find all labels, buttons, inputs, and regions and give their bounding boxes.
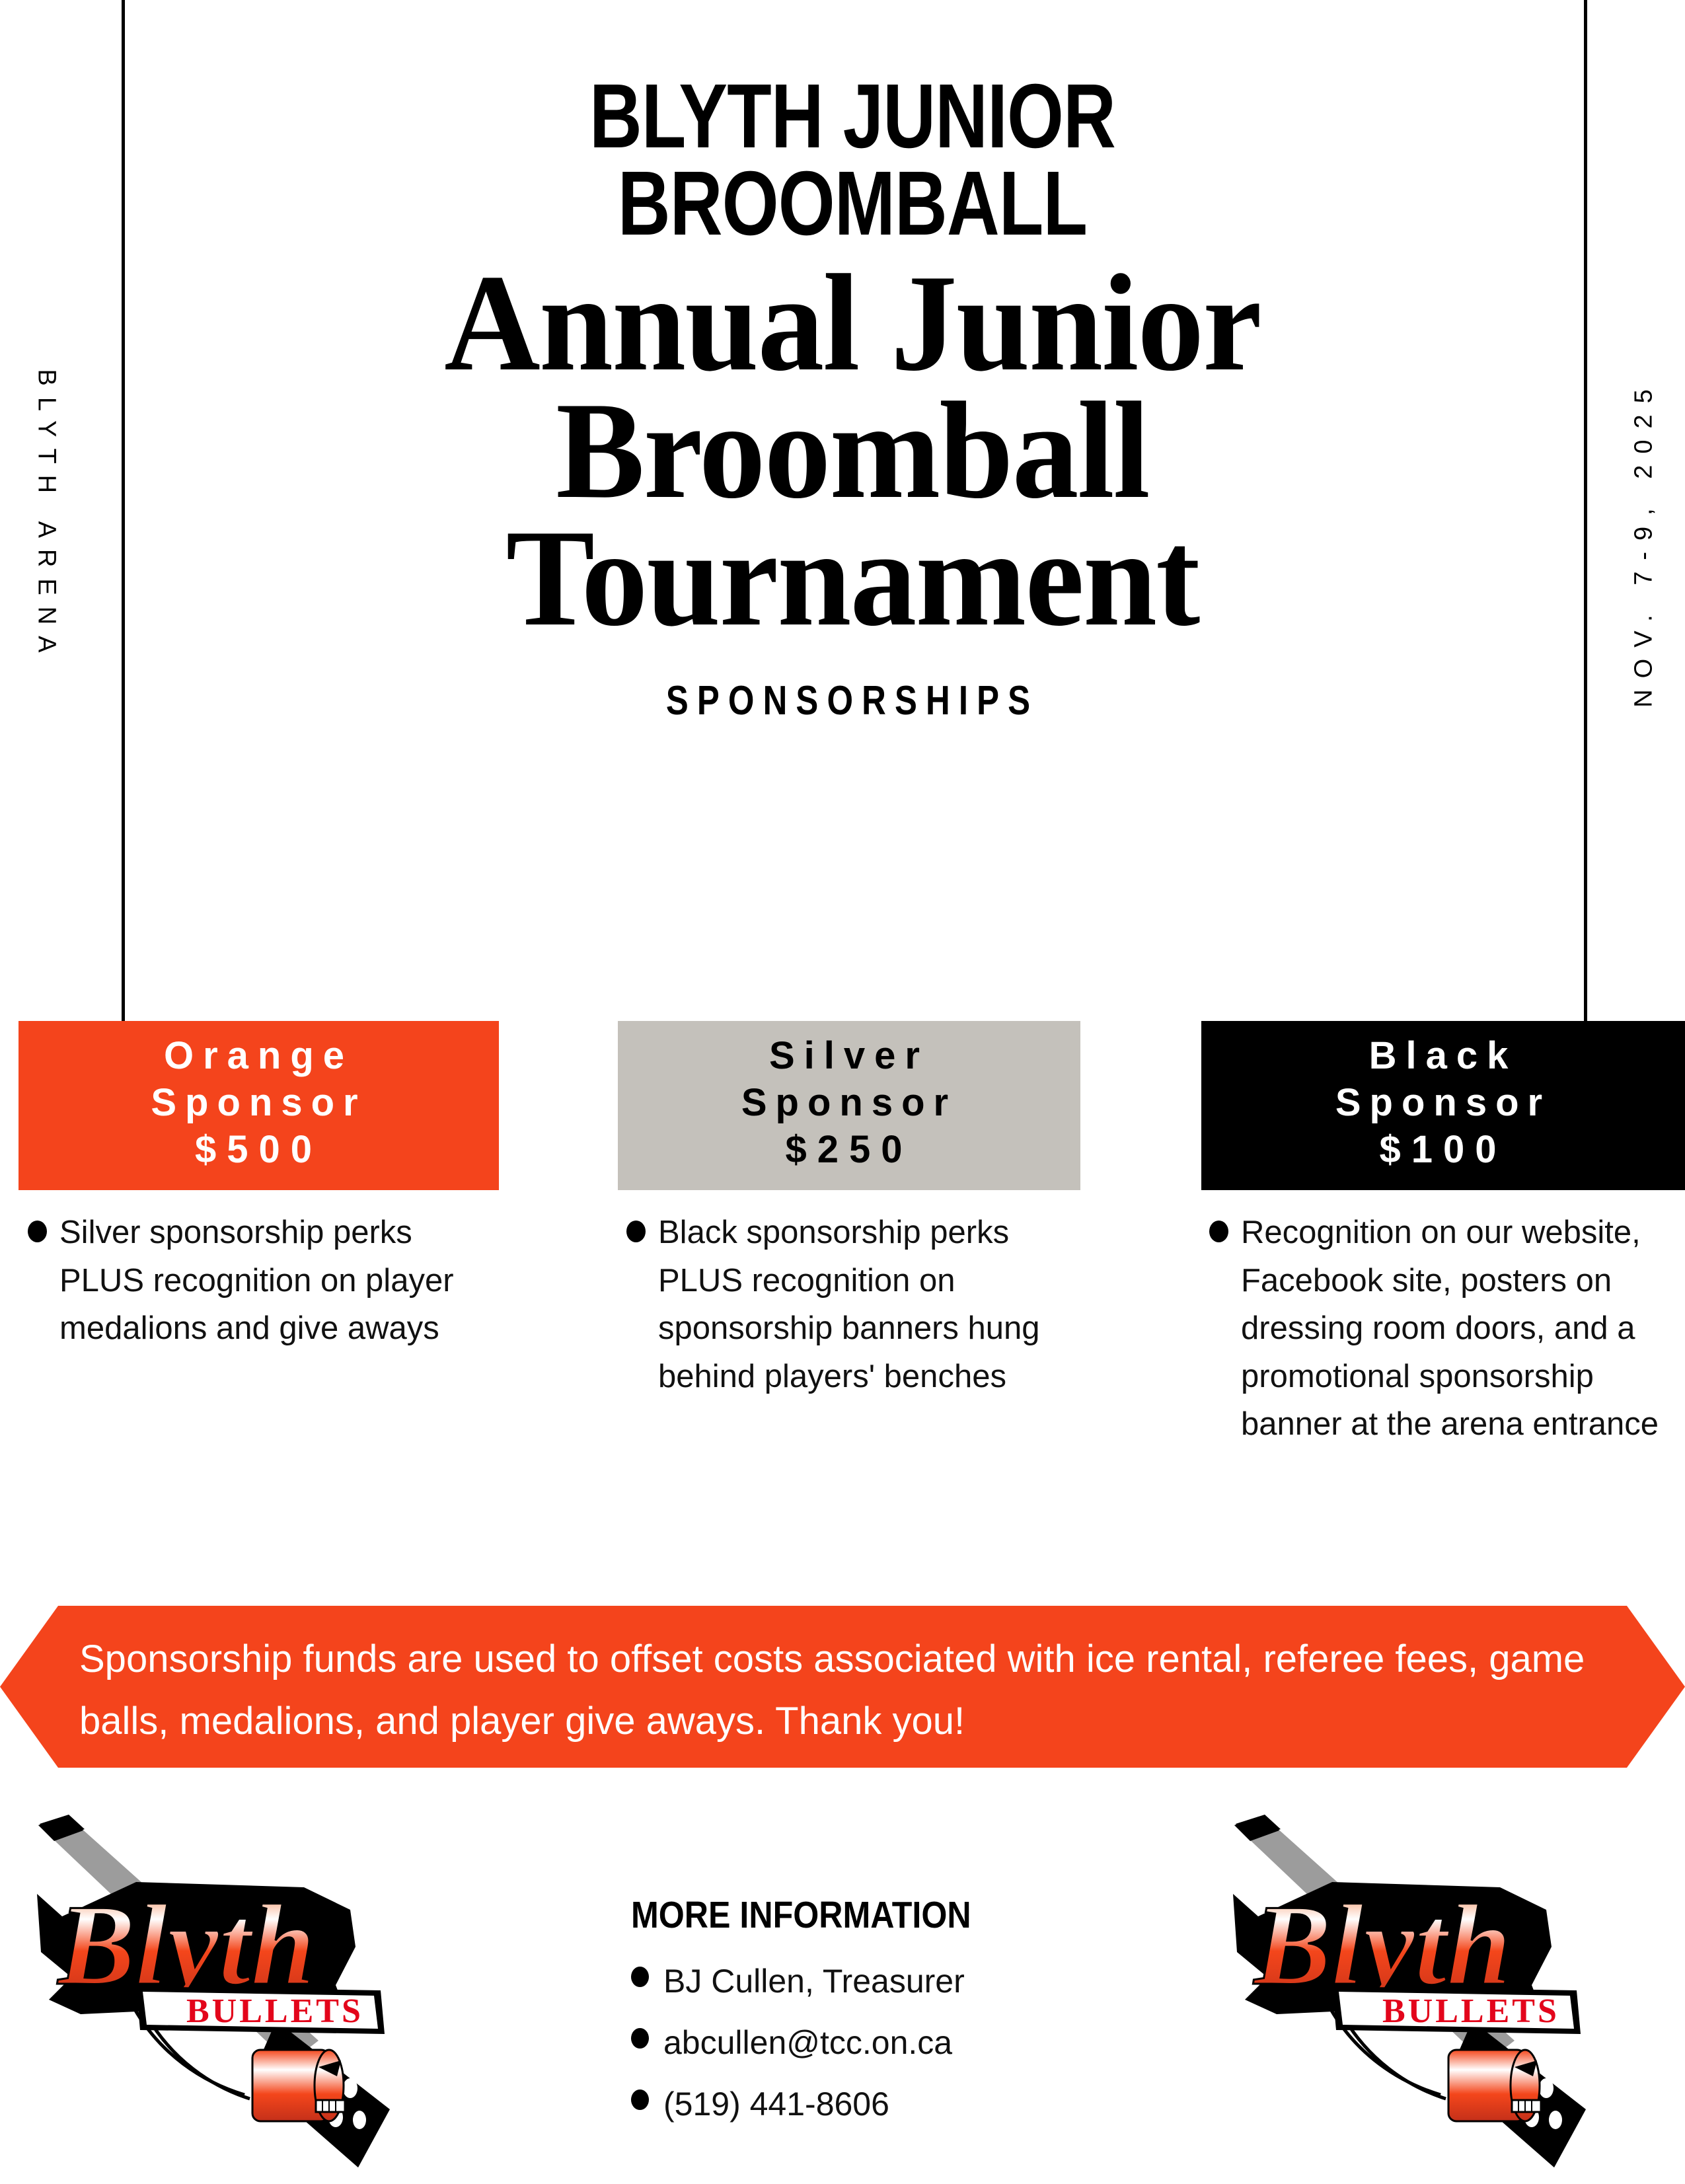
tier-chip-orange: Orange Sponsor $500 [19,1021,499,1190]
tier-card-black: Black Sponsor $100 Recognition on our we… [1123,1021,1685,1550]
kicker-line-2: BROOMBALL [271,160,1434,247]
blyth-bullets-logo-left: Blyth BULLETS [20,1811,430,2181]
tier-chip-black: Black Sponsor $100 [1201,1021,1685,1190]
section-subheading: SPONSORSHIPS [256,677,1448,724]
logo-bullets-word: BULLETS [1382,1992,1559,2030]
tier-amount: $500 [22,1127,495,1174]
tier-name-line-2: Sponsor [1205,1080,1681,1127]
tier-name-line-2: Sponsor [22,1080,495,1127]
more-information-heading: MORE INFORMATION [631,1893,1038,1937]
contact-phone[interactable]: (519) 441-8606 [663,2086,889,2123]
tier-card-silver: Silver Sponsor $250 Black sponsorship pe… [562,1021,1123,1550]
tier-amount: $100 [1205,1127,1681,1174]
tier-perk-row: Silver sponsorship perks PLUS recognitio… [28,1209,504,1353]
blyth-bullets-logo-right: Blyth BULLETS [1216,1811,1626,2181]
event-kicker: BLYTH JUNIOR BROOMBALL [271,73,1434,248]
headline-block: BLYTH JUNIOR BROOMBALL Annual Junior Bro… [126,73,1579,724]
funds-usage-banner: Sponsorship funds are used to offset cos… [0,1606,1685,1768]
tier-name-line-1: Black [1369,1034,1518,1077]
bullet-dot-icon [631,1967,649,1987]
left-vertical-rule [122,0,125,1023]
footer: Blyth BULLETS [0,1804,1685,2181]
bullet-dot-icon [28,1221,47,1242]
tier-amount: $250 [622,1127,1076,1174]
bullet-dot-icon [631,2028,649,2049]
contact-name: BJ Cullen, Treasurer [663,1963,965,2000]
date-vertical-label: NOV. 7-9, 2025 [1630,371,1659,715]
title-line-1: Annual Junior [155,260,1550,387]
logo-bullets-banner: BULLETS [136,1986,385,2034]
logo-bullets-word: BULLETS [186,1992,363,2030]
contact-row-email[interactable]: abcullen@tcc.on.ca [631,2025,1094,2061]
page-title: Annual Junior Broomball Tournament [155,260,1550,643]
tier-name-line-1: Silver [769,1034,929,1077]
right-vertical-rule [1584,0,1587,1023]
contact-email[interactable]: abcullen@tcc.on.ca [663,2025,952,2061]
tier-perk-text: Black sponsorship perks PLUS recognition… [658,1209,1080,1400]
angry-puck-icon [252,2050,345,2121]
tier-perk-row: Black sponsorship perks PLUS recognition… [626,1209,1080,1400]
bullet-dot-icon [626,1221,646,1242]
tier-name-line-1: Orange [164,1034,354,1077]
tier-name-line-2: Sponsor [622,1080,1076,1127]
title-line-2: Broomball [155,387,1550,515]
bullet-dot-icon [1209,1221,1228,1242]
tier-chip-silver: Silver Sponsor $250 [618,1021,1080,1190]
tier-card-orange: Orange Sponsor $500 Silver sponsorship p… [0,1021,562,1550]
sponsorship-tiers: Orange Sponsor $500 Silver sponsorship p… [0,1021,1685,1550]
kicker-line-1: BLYTH JUNIOR [271,73,1434,160]
contact-row-name: BJ Cullen, Treasurer [631,1963,1094,2000]
tier-perk-text: Silver sponsorship perks PLUS recognitio… [59,1209,504,1353]
funds-usage-text: Sponsorship funds are used to offset cos… [79,1628,1606,1752]
contact-row-phone[interactable]: (519) 441-8606 [631,2086,1094,2123]
more-information-block: MORE INFORMATION BJ Cullen, Treasurer ab… [631,1893,1094,2148]
bullet-dot-icon [631,2090,649,2110]
angry-puck-icon [1448,2050,1541,2121]
logo-bullets-banner: BULLETS [1332,1986,1581,2034]
tier-perk-row: Recognition on our website, Facebook sit… [1209,1209,1669,1449]
venue-vertical-label: BLYTH ARENA [32,345,61,689]
tier-perk-text: Recognition on our website, Facebook sit… [1241,1209,1669,1449]
title-line-3: Tournament [155,515,1550,642]
